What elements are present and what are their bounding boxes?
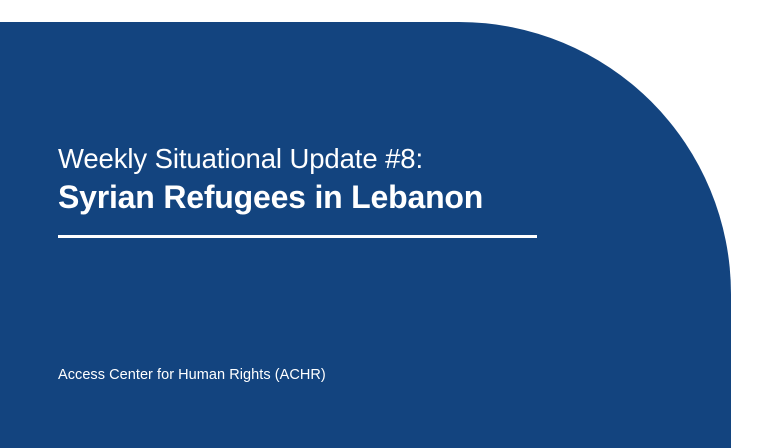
organization-name: Access Center for Human Rights (ACHR) <box>58 367 326 383</box>
report-series-title: Weekly Situational Update #8: <box>58 141 618 176</box>
blue-cover-panel: Weekly Situational Update #8: Syrian Ref… <box>0 22 731 448</box>
report-main-title: Syrian Refugees in Lebanon <box>58 177 618 219</box>
title-divider-rule <box>58 235 537 238</box>
cover-content: Weekly Situational Update #8: Syrian Ref… <box>58 22 658 448</box>
title-block: Weekly Situational Update #8: Syrian Ref… <box>58 141 618 238</box>
title-slide: Weekly Situational Update #8: Syrian Ref… <box>0 0 768 448</box>
